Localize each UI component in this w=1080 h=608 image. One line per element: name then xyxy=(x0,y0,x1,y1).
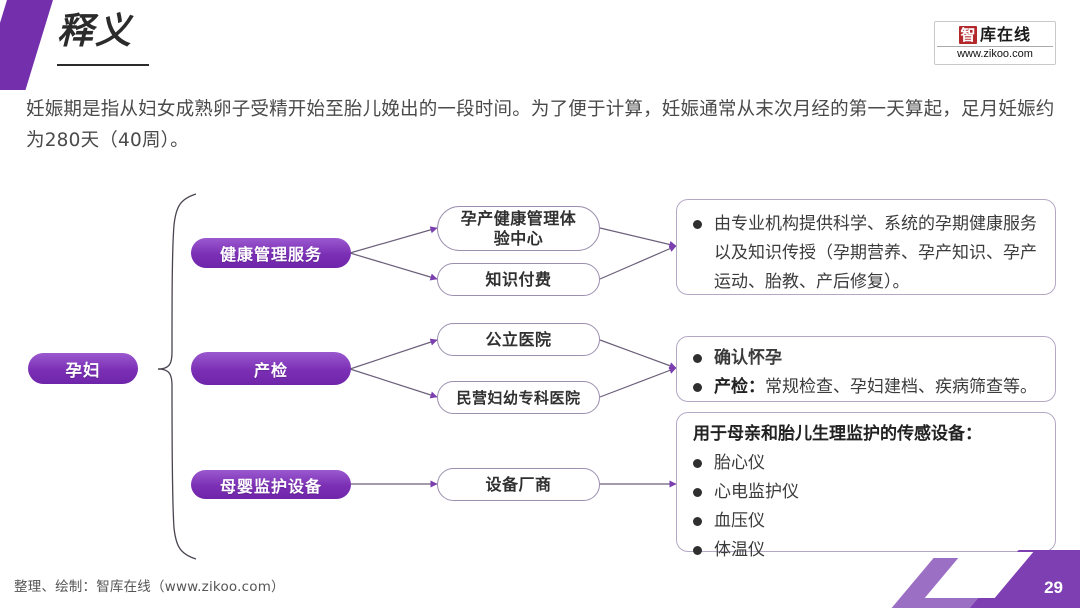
card-bullet-line: 确认怀孕 xyxy=(693,344,1041,373)
list-item: 胎心仪 xyxy=(693,449,1041,478)
card-bullet-line: 产检：常规检查、孕妇建档、疾病筛查等。 xyxy=(693,373,1041,402)
list-item-label: 血压仪 xyxy=(714,507,1041,536)
list-item: 血压仪 xyxy=(693,507,1041,536)
mid-node-paid-knowledge[interactable]: 知识付费 xyxy=(437,263,600,296)
card-bullet-line: 由专业机构提供科学、系统的孕期健康服务以及知识传授（孕期营养、孕产知识、孕产运动… xyxy=(693,210,1041,297)
bullet-icon xyxy=(693,354,702,363)
logo-name: 库在线 xyxy=(980,27,1031,43)
card-bullet-detail: 常规检查、孕妇建档、疾病筛查等。 xyxy=(765,377,1037,397)
bullet-icon xyxy=(693,459,702,468)
branch-node-prenatal-checkup[interactable]: 产检 xyxy=(191,352,351,385)
logo-url: www.zikoo.com xyxy=(937,46,1053,60)
bullet-icon xyxy=(693,220,702,229)
bullet-icon xyxy=(693,383,702,392)
node-root-pregnant-woman[interactable]: 孕妇 xyxy=(28,353,138,384)
footer-credit: 整理、绘制：智库在线（www.zikoo.com） xyxy=(14,575,285,595)
card-bullet-text: 由专业机构提供科学、系统的孕期健康服务以及知识传授（孕期营养、孕产知识、孕产运动… xyxy=(714,210,1041,297)
list-item: 心电监护仪 xyxy=(693,478,1041,507)
card-bullet-label: 产检： xyxy=(714,377,765,397)
intro-paragraph: 妊娠期是指从妇女成熟卵子受精开始至胎儿娩出的一段时间。为了便于计算，妊娠通常从末… xyxy=(26,94,1056,156)
card-heading: 用于母亲和胎儿生理监护的传感设备： xyxy=(693,421,1041,448)
list-item-label: 心电监护仪 xyxy=(714,478,1041,507)
purple-slash-shape xyxy=(0,0,58,90)
card-health-management: 由专业机构提供科学、系统的孕期健康服务以及知识传授（孕期营养、孕产知识、孕产运动… xyxy=(676,199,1056,295)
bullet-icon xyxy=(693,488,702,497)
brand-logo: 智 库在线 www.zikoo.com xyxy=(934,21,1056,65)
page-title: 释义 xyxy=(57,14,133,50)
mid-node-public-hospital[interactable]: 公立医院 xyxy=(437,323,600,356)
card-bullet-text: 确认怀孕 xyxy=(714,344,1041,373)
branch-node-health-management[interactable]: 健康管理服务 xyxy=(191,238,351,268)
card-prenatal-checkup: 确认怀孕 产检：常规检查、孕妇建档、疾病筛查等。 xyxy=(676,336,1056,402)
card-bullet-text: 产检：常规检查、孕妇建档、疾病筛查等。 xyxy=(714,373,1041,402)
mid-node-device-manufacturer[interactable]: 设备厂商 xyxy=(437,468,600,501)
list-item-label: 胎心仪 xyxy=(714,449,1041,478)
title-underline xyxy=(57,64,149,66)
mid-node-private-maternity-hospital[interactable]: 民营妇幼专科医院 xyxy=(437,381,600,414)
bullet-icon xyxy=(693,546,702,555)
logo-badge-icon: 智 xyxy=(959,26,977,44)
mid-node-maternal-health-center[interactable]: 孕产健康管理体验中心 xyxy=(437,206,600,251)
logo-wordmark: 智 库在线 xyxy=(959,26,1031,44)
page-number: 29 xyxy=(1044,578,1063,598)
card-monitoring-devices: 用于母亲和胎儿生理监护的传感设备： 胎心仪 心电监护仪 血压仪 体温仪 xyxy=(676,412,1056,552)
branch-node-monitoring-devices[interactable]: 母婴监护设备 xyxy=(191,470,351,499)
bullet-icon xyxy=(693,517,702,526)
